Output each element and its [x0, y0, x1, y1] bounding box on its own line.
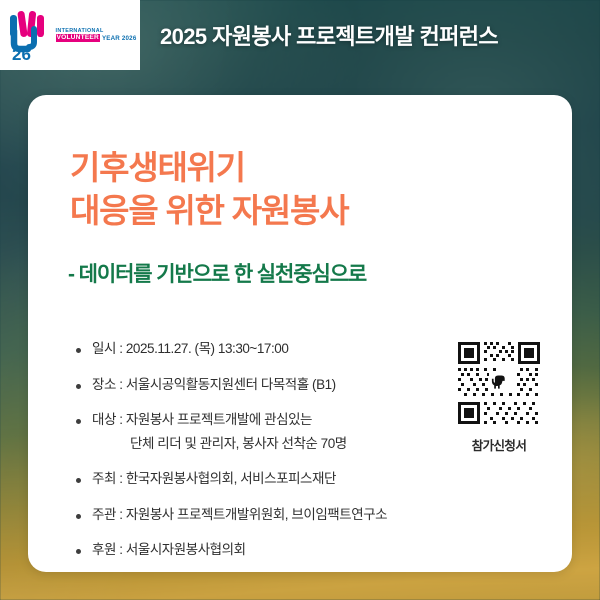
info-row-host-text: 주최 : 한국자원봉사협의회, 서비스포피스재단 [92, 469, 336, 489]
header-title: 2025 자원봉사 프로젝트개발 컨퍼런스 [160, 0, 498, 70]
info-row-date: 일시 : 2025.11.27. (목) 13:30~17:00 [76, 339, 421, 359]
qr-block[interactable]: 참가신청서 [451, 340, 547, 454]
header: 26 INTERNATIONAL VOLUNTEER YEAR 2026 202… [0, 0, 600, 88]
info-row-sponsor: 후원 : 서울시자원봉사협의회 [76, 540, 421, 560]
info-label-sponsor: 후원 [92, 542, 116, 557]
info-row-organizer-text: 주관 : 자원봉사 프로젝트개발위원회, 브이임팩트연구소 [92, 505, 387, 525]
poster-title-line-1: 기후생태위기 [70, 147, 348, 190]
logo-container: 26 INTERNATIONAL VOLUNTEER YEAR 2026 [0, 0, 140, 70]
info-label-organizer: 주관 [92, 507, 116, 522]
info-label-host: 주최 [92, 471, 116, 486]
info-sep: : [119, 542, 126, 557]
info-value-sponsor: 서울시자원봉사협의회 [126, 542, 246, 557]
info-label-date: 일시 [92, 341, 116, 356]
info-sep: : [119, 412, 126, 427]
info-row-venue-text: 장소 : 서울시공익활동지원센터 다목적홀 (B1) [92, 375, 336, 395]
info-row-organizer: 주관 : 자원봉사 프로젝트개발위원회, 브이임팩트연구소 [76, 505, 421, 525]
bullet-icon [76, 348, 81, 353]
info-row-audience: 대상 : 자원봉사 프로젝트개발에 관심있는 단체 리더 및 관리자, 봉사자 … [76, 410, 421, 453]
qr-label: 참가신청서 [451, 435, 547, 454]
info-value-venue: 서울시공익활동지원센터 다목적홀 (B1) [126, 377, 336, 392]
bullet-icon [76, 419, 81, 424]
logo-line-year: YEAR 2026 [102, 35, 136, 42]
bullet-icon [76, 514, 81, 519]
info-sep: : [119, 377, 126, 392]
info-row-date-text: 일시 : 2025.11.27. (목) 13:30~17:00 [92, 339, 288, 359]
info-value-audience-line2: 단체 리더 및 관리자, 봉사자 선착순 70명 [92, 434, 347, 454]
info-value-audience: 자원봉사 프로젝트개발에 관심있는 [126, 412, 312, 427]
info-row-sponsor-text: 후원 : 서울시자원봉사협의회 [92, 540, 246, 560]
info-row-audience-text: 대상 : 자원봉사 프로젝트개발에 관심있는 단체 리더 및 관리자, 봉사자 … [92, 410, 347, 453]
info-sep: : [119, 341, 126, 356]
info-value-organizer: 자원봉사 프로젝트개발위원회, 브이임팩트연구소 [126, 507, 387, 522]
bullet-icon [76, 549, 81, 554]
qr-code-icon[interactable] [456, 340, 542, 426]
qr-code-svg [456, 340, 542, 426]
iv26-hand-logo-icon: 26 [6, 9, 50, 61]
poster-title: 기후생태위기 대응을 위한 자원봉사 [70, 147, 348, 233]
poster-title-line-2: 대응을 위한 자원봉사 [70, 190, 348, 233]
info-value-host: 한국자원봉사협의회, 서비스포피스재단 [126, 471, 336, 486]
info-label-venue: 장소 [92, 377, 116, 392]
info-row-venue: 장소 : 서울시공익활동지원센터 다목적홀 (B1) [76, 375, 421, 395]
info-value-date: 2025.11.27. (목) 13:30~17:00 [126, 341, 289, 356]
info-label-audience: 대상 [92, 412, 116, 427]
logo-line-volunteer: VOLUNTEER [56, 34, 100, 42]
content-card: 기후생태위기 대응을 위한 자원봉사 - 데이터를 기반으로 한 실천중심으로 … [28, 95, 572, 572]
bullet-icon [76, 478, 81, 483]
svg-text:26: 26 [12, 45, 31, 61]
info-list: 일시 : 2025.11.27. (목) 13:30~17:00 장소 : 서울… [76, 339, 421, 576]
bullet-icon [76, 384, 81, 389]
poster-subtitle: - 데이터를 기반으로 한 실천중심으로 [68, 258, 366, 288]
info-sep: : [119, 507, 126, 522]
info-sep: : [119, 471, 126, 486]
info-row-host: 주최 : 한국자원봉사협의회, 서비스포피스재단 [76, 469, 421, 489]
